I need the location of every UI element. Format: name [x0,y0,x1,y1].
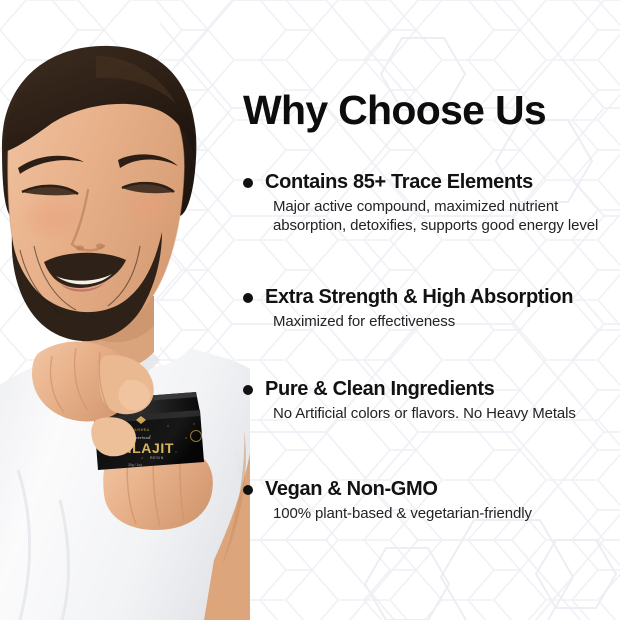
benefit-description: Maximized for effectiveness [273,312,591,331]
svg-text:RESIN: RESIN [150,456,164,460]
benefit-item: Contains 85+ Trace Elements Major active… [243,170,591,235]
benefit-item: Extra Strength & High Absorption Maximiz… [243,285,591,331]
bullet-dot-icon [243,485,253,495]
benefit-description: No Artificial colors or flavors. No Heav… [273,404,603,423]
svg-text:30g / 1oz: 30g / 1oz [128,463,142,467]
bullet-dot-icon [243,293,253,303]
benefit-heading: Vegan & Non-GMO [265,477,591,502]
benefit-heading: Pure & Clean Ingredients [265,377,591,402]
benefit-heading: Contains 85+ Trace Elements [265,170,591,195]
promo-banner: NUSHEA Premium Superfood SHILAJIT RESIN … [0,0,620,620]
benefit-description: Major active compound, maximized nutrien… [273,197,603,235]
page-title: Why Choose Us [243,88,546,133]
benefit-description: 100% plant-based & vegetarian-friendly [273,504,620,523]
bullet-dot-icon [243,178,253,188]
benefit-item: Pure & Clean Ingredients No Artificial c… [243,377,591,423]
product-photo: NUSHEA Premium Superfood SHILAJIT RESIN … [0,0,250,620]
benefit-item: Vegan & Non-GMO 100% plant-based & veget… [243,477,591,523]
bullet-dot-icon [243,385,253,395]
benefit-heading: Extra Strength & High Absorption [265,285,591,310]
